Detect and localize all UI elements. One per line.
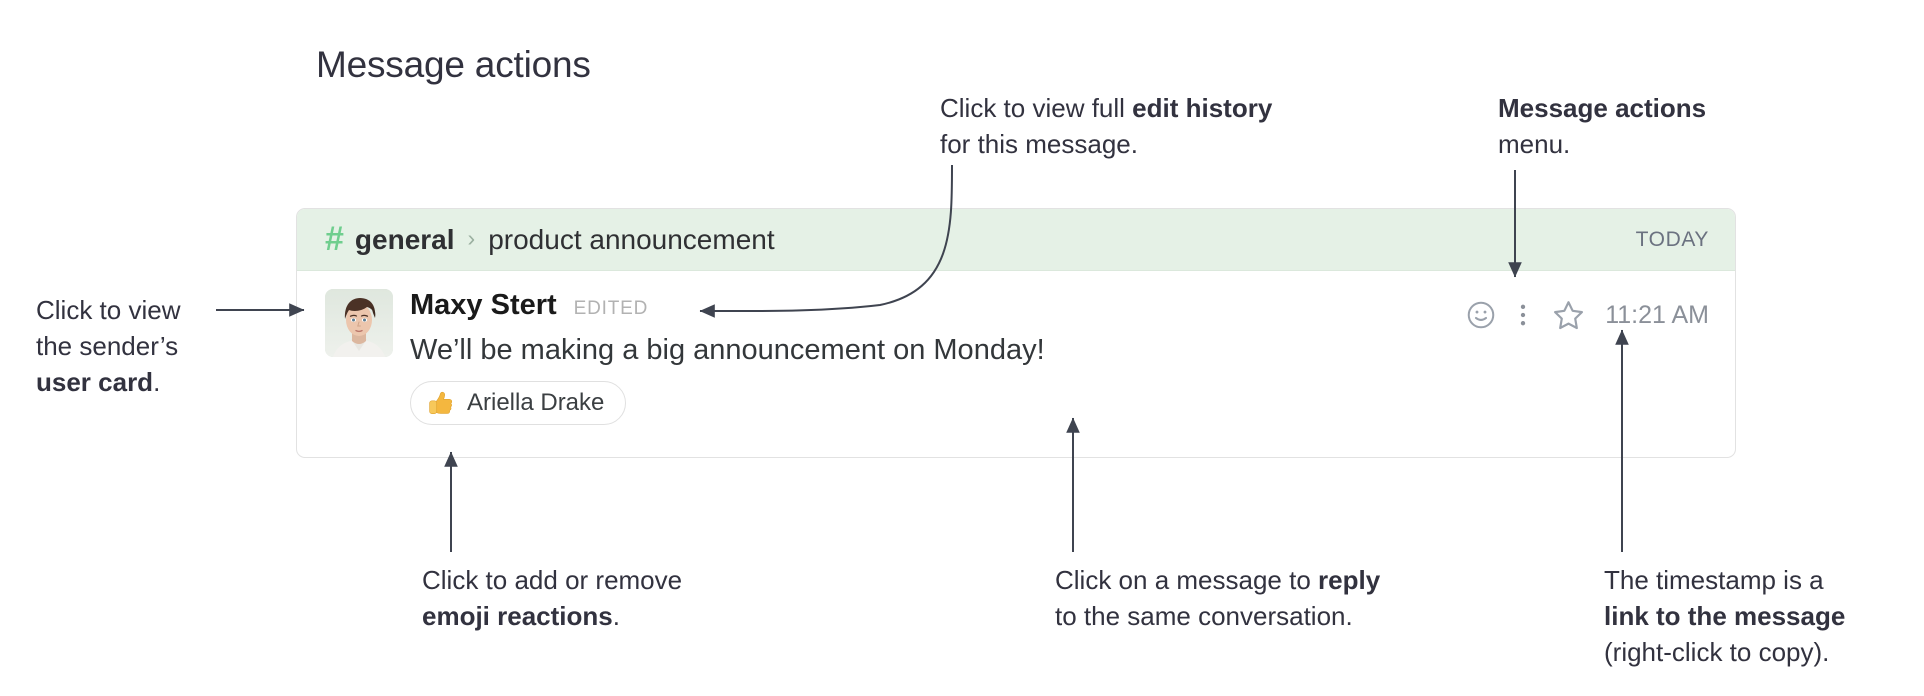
topic-name[interactable]: product announcement bbox=[488, 224, 774, 256]
message-card: # general › product announcement TODAY bbox=[296, 208, 1736, 458]
edited-badge[interactable]: EDITED bbox=[574, 298, 648, 320]
annotation-actions-menu: Message actions menu. bbox=[1498, 90, 1706, 162]
annotation-emoji-reactions-line2: emoji reactions. bbox=[422, 598, 682, 634]
annotation-edit-history-line2: for this message. bbox=[940, 126, 1272, 162]
emoji-reaction-icon[interactable] bbox=[1459, 293, 1503, 337]
message-actions: 11:21 AM bbox=[1459, 293, 1709, 337]
vertical-dots-icon[interactable] bbox=[1503, 293, 1543, 337]
annotation-emoji-reactions: Click to add or remove emoji reactions. bbox=[422, 562, 682, 634]
annotation-timestamp-link-line2: link to the message bbox=[1604, 598, 1845, 634]
sender-name[interactable]: Maxy Stert bbox=[410, 289, 557, 322]
annotation-edit-history-lead: Click to view full bbox=[940, 93, 1132, 123]
annotation-actions-menu-emphasis: Message actions bbox=[1498, 93, 1706, 123]
annotation-actions-menu-line1: Message actions bbox=[1498, 90, 1706, 126]
reaction-user-name: Ariella Drake bbox=[467, 389, 604, 417]
annotation-user-card-line2: the sender’s bbox=[36, 328, 180, 364]
annotation-reply: Click on a message to reply to the same … bbox=[1055, 562, 1380, 634]
annotation-timestamp-link-line1: The timestamp is a bbox=[1604, 562, 1845, 598]
annotation-timestamp-link-line3: (right-click to copy). bbox=[1604, 634, 1845, 670]
annotation-emoji-reactions-emphasis: emoji reactions bbox=[422, 601, 613, 631]
emoji-reaction-pill[interactable]: Ariella Drake bbox=[410, 381, 626, 425]
message-timestamp[interactable]: 11:21 AM bbox=[1605, 301, 1709, 330]
stream-name[interactable]: general bbox=[355, 224, 455, 256]
annotation-reply-line2: to the same conversation. bbox=[1055, 598, 1380, 634]
annotation-user-card-period: . bbox=[153, 367, 160, 397]
date-label: TODAY bbox=[1636, 228, 1709, 252]
annotation-emoji-reactions-line1: Click to add or remove bbox=[422, 562, 682, 598]
avatar[interactable] bbox=[325, 289, 393, 357]
annotation-actions-menu-line2: menu. bbox=[1498, 126, 1706, 162]
annotation-edit-history-line1: Click to view full edit history bbox=[940, 90, 1272, 126]
star-outline-icon[interactable] bbox=[1543, 293, 1593, 337]
annotation-user-card-line1: Click to view bbox=[36, 292, 180, 328]
recipient-bar[interactable]: # general › product announcement TODAY bbox=[297, 209, 1735, 271]
annotation-emoji-reactions-period: . bbox=[613, 601, 620, 631]
annotation-edit-history: Click to view full edit history for this… bbox=[940, 90, 1272, 162]
annotation-timestamp-link: The timestamp is a link to the message (… bbox=[1604, 562, 1845, 670]
annotation-user-card: Click to view the sender’s user card. bbox=[36, 292, 180, 400]
thumbs-up-emoji-icon bbox=[426, 389, 455, 418]
annotation-reply-line1: Click on a message to reply bbox=[1055, 562, 1380, 598]
annotation-edit-history-emphasis: edit history bbox=[1132, 93, 1272, 123]
message-text[interactable]: We’ll be making a big announcement on Mo… bbox=[410, 334, 1709, 367]
hash-icon: # bbox=[325, 222, 344, 256]
annotation-reply-lead: Click on a message to bbox=[1055, 565, 1318, 595]
page-title: Message actions bbox=[316, 44, 591, 86]
annotation-reply-emphasis: reply bbox=[1318, 565, 1380, 595]
annotation-user-card-emphasis: user card bbox=[36, 367, 153, 397]
annotation-user-card-line3: user card. bbox=[36, 364, 180, 400]
chevron-right-icon: › bbox=[468, 225, 476, 252]
message-row[interactable]: Maxy Stert EDITED We’ll be making a big … bbox=[297, 271, 1735, 425]
annotation-timestamp-link-emphasis: link to the message bbox=[1604, 601, 1845, 631]
